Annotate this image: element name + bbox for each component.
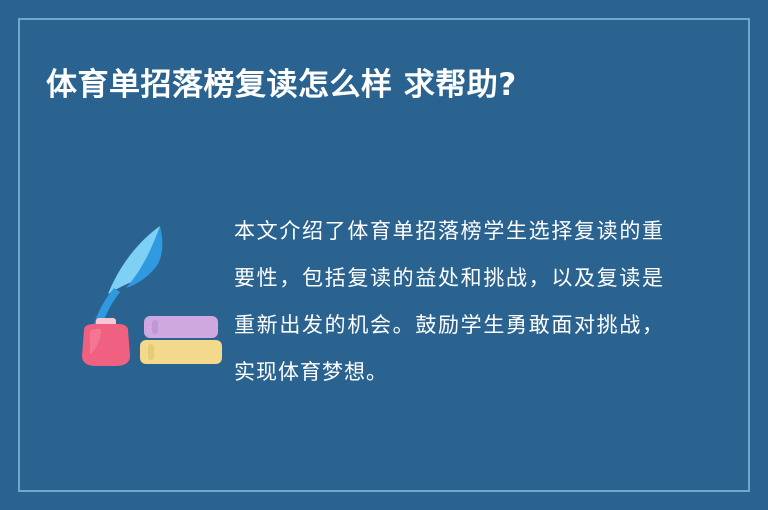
books-icon [140,316,222,364]
article-body: 本文介绍了体育单招落榜学生选择复读的重要性，包括复读的益处和挑战，以及复读是重新… [46,200,706,450]
article-summary: 本文介绍了体育单招落榜学生选择复读的重要性，包括复读的益处和挑战，以及复读是重新… [234,208,664,396]
quill-inkpot-books-illustration [68,214,238,374]
page-title: 体育单招落榜复读怎么样 求帮助? [46,62,706,108]
inkpot-icon [82,318,130,366]
article-card: 体育单招落榜复读怎么样 求帮助? [0,0,768,510]
quill-icon [94,226,162,327]
